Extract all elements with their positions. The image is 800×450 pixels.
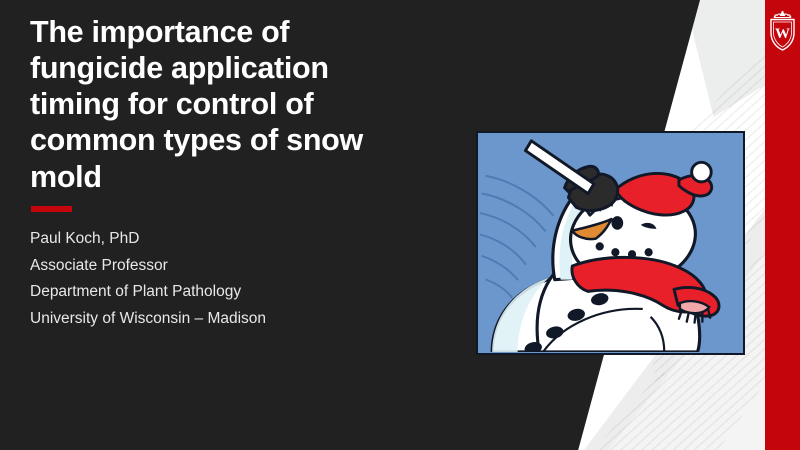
byline-line-author: Paul Koch, PhD — [30, 226, 450, 253]
uw-crest-logo: W — [765, 9, 800, 53]
svg-text:W: W — [775, 26, 790, 42]
byline-line-department: Department of Plant Pathology — [30, 279, 450, 306]
slide-title: The importance of fungicide application … — [30, 14, 430, 195]
byline-line-institution: University of Wisconsin – Madison — [30, 306, 450, 333]
snowman-illustration — [476, 131, 745, 355]
brand-red-bar — [765, 0, 800, 450]
presentation-slide: W The importance of fungicide applicatio… — [0, 0, 800, 450]
title-accent-rule — [31, 206, 72, 212]
byline-line-position: Associate Professor — [30, 253, 450, 280]
byline-block: Paul Koch, PhD Associate Professor Depar… — [30, 226, 450, 332]
